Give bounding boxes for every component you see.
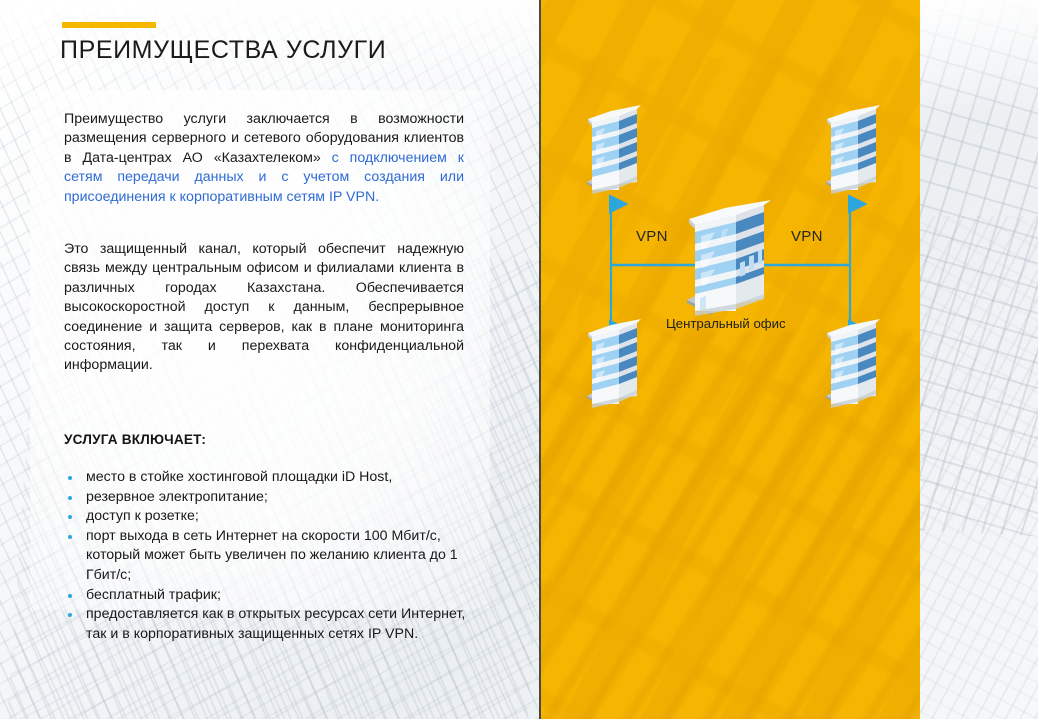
list-item: предоставляется как в открытых ресурсах … bbox=[64, 605, 466, 644]
central-office-label: Центральный офис bbox=[666, 316, 786, 331]
paragraph-secure-channel: Это защищенный канал, который обеспечит … bbox=[64, 240, 464, 376]
slide-root: ПРЕИМУЩЕСТВА УСЛУГИ Преимущество услуги … bbox=[0, 0, 1038, 719]
list-item: доступ к розетке; bbox=[64, 507, 466, 527]
page-title: ПРЕИМУЩЕСТВА УСЛУГИ bbox=[60, 36, 386, 65]
list-item: бесплатный трафик; bbox=[64, 586, 466, 606]
vpn-label-left: VPN bbox=[636, 228, 668, 245]
building-icon-central-office bbox=[684, 198, 776, 320]
building-icon-branch-top-left bbox=[585, 104, 643, 198]
list-item: место в стойке хостинговой площадки iD H… bbox=[64, 468, 466, 488]
vpn-label-right: VPN bbox=[791, 228, 823, 245]
building-icon-branch-top-right bbox=[824, 104, 882, 198]
service-includes-heading: УСЛУГА ВКЛЮЧАЕТ: bbox=[64, 432, 206, 447]
list-item: порт выхода в сеть Интернет на скорости … bbox=[64, 527, 466, 586]
title-accent-bar bbox=[62, 22, 156, 28]
paragraph-advantage: Преимущество услуги заключается в возмож… bbox=[64, 110, 464, 207]
building-icon-branch-bottom-right bbox=[824, 318, 882, 412]
diagram-panel: VPN VPN Центральный офис bbox=[541, 0, 920, 719]
service-includes-list: место в стойке хостинговой площадки iD H… bbox=[64, 468, 466, 644]
list-item: резервное электропитание; bbox=[64, 488, 466, 508]
building-icon-branch-bottom-left bbox=[585, 318, 643, 412]
